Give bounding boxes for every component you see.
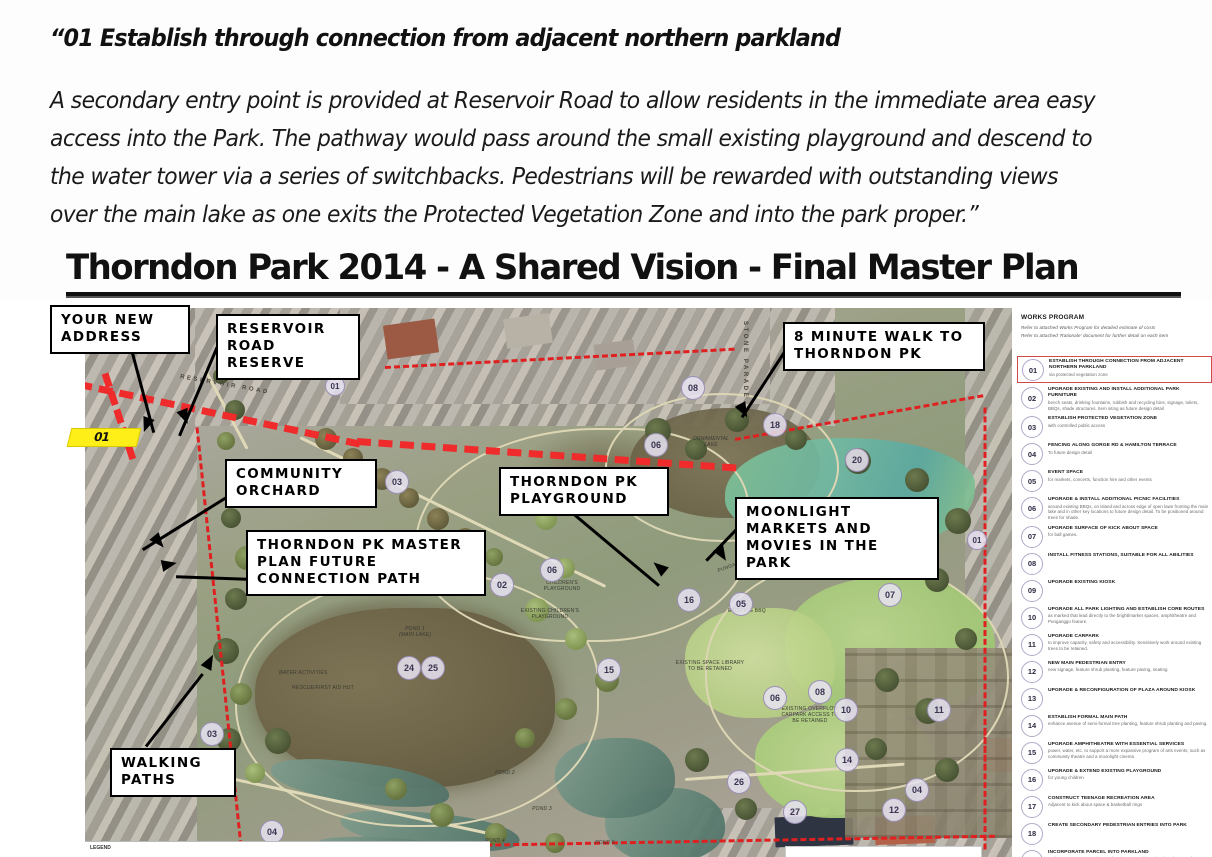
tree-canopy	[865, 738, 887, 760]
tree-canopy	[385, 778, 407, 800]
callout-walking-paths[interactable]: WALKING PATHS	[110, 748, 236, 797]
works-item-number: 07	[1021, 526, 1043, 548]
works-item-body: CREATE SECONDARY PEDESTRIAN ENTRIES INTO…	[1048, 822, 1209, 829]
boundary-dashed-carpark-east	[984, 730, 987, 850]
works-item-body: UPGRADE & EXTEND EXISTING PLAYGROUNDfor …	[1048, 768, 1209, 781]
works-item-15[interactable]: 15UPGRADE AMPHITHEATRE WITH ESSENTIAL SE…	[1017, 740, 1212, 765]
legend-panel: LEGEND	[85, 841, 490, 857]
highlight-label: 01	[92, 430, 110, 444]
works-item-detail: as marked that lead directly to the brig…	[1048, 613, 1209, 624]
works-item-heading: UPGRADE CARPARK	[1048, 634, 1209, 640]
map-marker-14[interactable]: 14	[835, 748, 859, 772]
map-marker-05[interactable]: 05	[729, 592, 753, 616]
works-item-body: UPGRADE & RECONFIGURATION OF PLAZA AROUN…	[1048, 687, 1209, 694]
works-item-detail: Adjacent to kick about space & basketbal…	[1048, 802, 1209, 808]
map-marker-06a[interactable]: 06	[644, 433, 668, 457]
works-program-subtitle-1: Refer to attached Works Program for deta…	[1021, 325, 1155, 330]
works-item-09[interactable]: 09UPGRADE EXISTING KIOSK	[1017, 578, 1212, 603]
works-item-heading: UPGRADE & RECONFIGURATION OF PLAZA AROUN…	[1048, 688, 1209, 694]
title-underline	[66, 292, 1181, 296]
works-item-heading: UPGRADE EXISTING KIOSK	[1048, 580, 1209, 586]
works-item-number: 17	[1021, 796, 1043, 818]
works-item-heading: FENCING ALONG GORGE RD & HAMILTON TERRAC…	[1048, 443, 1209, 449]
quote-line-4: over the main lake as one exits the Prot…	[50, 196, 1105, 234]
label-water-activities: WATER ACTIVITIES	[270, 670, 336, 676]
works-item-body: ESTABLISH PROTECTED VEGETATION ZONEwith …	[1048, 415, 1209, 428]
works-item-19[interactable]: 19INCORPORATE PARCEL INTO PARKLANDand cr…	[1017, 848, 1212, 857]
map-marker-11[interactable]: 11	[927, 698, 951, 722]
works-item-number: 16	[1021, 769, 1043, 791]
works-program-subtitle-2: Refer to attached 'Rationale' document f…	[1021, 333, 1168, 338]
map-marker-06b[interactable]: 06	[540, 558, 564, 582]
callout-your-new-address[interactable]: YOUR NEW ADDRESS	[50, 305, 190, 354]
works-item-number: 12	[1021, 661, 1043, 683]
works-item-heading: INSTALL FITNESS STATIONS, SUITABLE FOR A…	[1048, 553, 1209, 559]
label-pond-3: POND 3	[522, 806, 562, 812]
works-item-heading: ESTABLISH FORMAL MAIN PATH	[1048, 715, 1209, 721]
tree-canopy	[685, 748, 709, 772]
map-marker-08a[interactable]: 08	[681, 376, 705, 400]
callout-thorndon-pk-playground[interactable]: THORNDON PK PLAYGROUND	[499, 467, 669, 516]
works-item-04[interactable]: 04FENCING ALONG GORGE RD & HAMILTON TERR…	[1017, 441, 1212, 466]
map-marker-27[interactable]: 27	[783, 800, 807, 824]
works-item-number: 04	[1021, 443, 1043, 465]
map-marker-15[interactable]: 15	[597, 658, 621, 682]
map-marker-06c[interactable]: 06	[763, 686, 787, 710]
map-marker-24[interactable]: 24	[397, 656, 421, 680]
tree-canopy	[935, 758, 959, 782]
tree-canopy	[565, 628, 587, 650]
tree-canopy	[905, 468, 929, 492]
works-item-body: UPGRADE CARPARKto improve capacity, safe…	[1048, 633, 1209, 652]
works-item-05[interactable]: 05EVENT SPACEfor markets, concerts, func…	[1017, 468, 1212, 493]
callout-community-orchard[interactable]: COMMUNITY ORCHARD	[225, 459, 377, 508]
works-item-07[interactable]: 07UPGRADE SURFACE OF KICK ABOUT SPACEfor…	[1017, 524, 1212, 549]
works-item-body: FENCING ALONG GORGE RD & HAMILTON TERRAC…	[1048, 442, 1209, 455]
works-item-heading: CONSTRUCT TEENAGE RECREATION AREA	[1048, 796, 1209, 802]
works-item-number: 11	[1021, 634, 1043, 656]
quote-heading: “01 Establish through connection from ad…	[50, 24, 1073, 52]
works-item-detail: with controlled public access	[1048, 423, 1209, 429]
works-item-number: 13	[1021, 688, 1043, 710]
works-item-number: 09	[1021, 580, 1043, 602]
works-item-detail: To future design detail	[1048, 450, 1209, 456]
tree-canopy	[217, 432, 235, 450]
works-item-detail: for markets, concerts, function hire and…	[1048, 477, 1209, 483]
tree-canopy	[245, 763, 265, 783]
works-item-body: INSTALL FITNESS STATIONS, SUITABLE FOR A…	[1048, 552, 1209, 559]
works-item-heading: NEW MAIN PEDESTRIAN ENTRY	[1048, 661, 1209, 667]
works-item-heading: CREATE SECONDARY PEDESTRIAN ENTRIES INTO…	[1048, 823, 1209, 829]
works-item-number: 08	[1021, 553, 1043, 575]
works-item-06[interactable]: 06UPGRADE & INSTALL ADDITIONAL PICNIC FA…	[1017, 495, 1212, 521]
map-marker-03b[interactable]: 03	[200, 722, 224, 746]
label-ornamental-lake: ORNAMENTAL LAKE	[681, 436, 741, 448]
works-item-heading: UPGRADE ALL PARK LIGHTING AND ESTABLISH …	[1048, 607, 1209, 613]
works-item-number: 03	[1021, 416, 1043, 438]
works-item-heading: UPGRADE & INSTALL ADDITIONAL PICNIC FACI…	[1048, 497, 1209, 503]
works-item-heading: UPGRADE EXISTING AND INSTALL ADDITIONAL …	[1048, 387, 1209, 399]
works-item-detail: bench seats, drinking fountains, rubbish…	[1048, 400, 1209, 411]
works-item-11[interactable]: 11UPGRADE CARPARKto improve capacity, sa…	[1017, 632, 1212, 657]
works-item-number: 01	[1022, 359, 1044, 381]
tree-canopy	[955, 628, 977, 650]
works-item-body: INCORPORATE PARCEL INTO PARKLANDand crea…	[1048, 849, 1209, 857]
works-item-number: 15	[1021, 742, 1043, 764]
label-pond-1-main-lake: POND 1 (MAIN LAKE)	[385, 626, 445, 638]
legend-title: LEGEND	[90, 845, 111, 851]
quote-line-2: access into the Park. The pathway would …	[50, 120, 1105, 158]
tree-canopy	[945, 508, 971, 534]
map-marker-02[interactable]: 02	[490, 573, 514, 597]
quote-line-1: A secondary entry point is provided at R…	[50, 82, 1105, 120]
works-item-18[interactable]: 18CREATE SECONDARY PEDESTRIAN ENTRIES IN…	[1017, 821, 1212, 846]
works-item-detail: via protected vegetation zone	[1049, 372, 1208, 378]
tree-canopy	[555, 698, 577, 720]
works-item-number: 18	[1021, 823, 1043, 845]
map-marker-18[interactable]: 18	[763, 413, 787, 437]
works-item-body: ESTABLISH THROUGH CONNECTION FROM ADJACE…	[1049, 358, 1208, 378]
works-item-12[interactable]: 12NEW MAIN PEDESTRIAN ENTRYnew signage, …	[1017, 659, 1212, 684]
quote-line-3: the water tower via a series of switchba…	[50, 158, 1105, 196]
works-item-heading: ESTABLISH PROTECTED VEGETATION ZONE	[1048, 416, 1209, 422]
works-program-title: WORKS PROGRAM	[1021, 314, 1084, 321]
map-marker-04a[interactable]: 04	[905, 778, 929, 802]
master-plan-sheet: RESERVOIR ROAD STONE PARADE ORNAMENTAL L…	[22, 300, 1212, 857]
legend-panel-secondary	[785, 846, 982, 857]
tree-canopy	[735, 798, 757, 820]
map-marker-01b[interactable]: 01	[967, 530, 987, 550]
boundary-dashed-east	[984, 408, 987, 770]
works-item-body: NEW MAIN PEDESTRIAN ENTRYnew signage, fe…	[1048, 660, 1209, 673]
works-item-number: 02	[1021, 387, 1043, 409]
tree-canopy	[515, 728, 535, 748]
works-item-01[interactable]: 01ESTABLISH THROUGH CONNECTION FROM ADJA…	[1017, 356, 1212, 383]
label-pond-2: POND 2	[485, 770, 525, 776]
road-label-stone-parade: STONE PARADE	[742, 321, 748, 399]
works-item-17[interactable]: 17CONSTRUCT TEENAGE RECREATION AREAAdjac…	[1017, 794, 1212, 819]
map-marker-16[interactable]: 16	[677, 588, 701, 612]
works-item-number: 05	[1021, 470, 1043, 492]
tree-canopy	[265, 728, 291, 754]
map-marker-20[interactable]: 20	[845, 448, 869, 472]
works-program-panel: WORKS PROGRAM Refer to attached Works Pr…	[1017, 308, 1212, 857]
label-pond-5: POND 5	[585, 840, 625, 846]
works-item-heading: UPGRADE SURFACE OF KICK ABOUT SPACE	[1048, 526, 1209, 532]
callout-master-plan-future-connection-path[interactable]: THORNDON PK MASTER PLAN FUTURE CONNECTIO…	[246, 530, 486, 596]
works-item-detail: to improve capacity, safety and accessib…	[1048, 640, 1209, 651]
map-marker-12[interactable]: 12	[882, 798, 906, 822]
tree-canopy	[875, 668, 899, 692]
tree-canopy	[485, 548, 503, 566]
callout-reservoir-road-reserve[interactable]: RESERVOIR ROAD RESERVE	[216, 314, 360, 380]
label-childrens-playground: CHILDREN'S PLAYGROUND	[535, 580, 589, 592]
map-marker-10[interactable]: 10	[834, 698, 858, 722]
works-item-detail: around existing BBQs, on island and acro…	[1048, 504, 1209, 521]
works-item-16[interactable]: 16UPGRADE & EXTEND EXISTING PLAYGROUNDfo…	[1017, 767, 1212, 792]
works-item-heading: UPGRADE & EXTEND EXISTING PLAYGROUND	[1048, 769, 1209, 775]
works-item-body: UPGRADE ALL PARK LIGHTING AND ESTABLISH …	[1048, 606, 1209, 625]
quote-body: A secondary entry point is provided at R…	[50, 82, 1105, 234]
works-item-heading: EVENT SPACE	[1048, 470, 1209, 476]
map-marker-26[interactable]: 26	[727, 770, 751, 794]
map-marker-25[interactable]: 25	[421, 656, 445, 680]
works-item-14[interactable]: 14ESTABLISH FORMAL MAIN PATHenhance aven…	[1017, 713, 1212, 738]
label-existing-space-library: EXISTING SPACE LIBRARY TO BE RETAINED	[675, 660, 745, 672]
works-item-detail: for young children	[1048, 775, 1209, 781]
works-item-body: UPGRADE & INSTALL ADDITIONAL PICNIC FACI…	[1048, 496, 1209, 520]
works-item-body: UPGRADE EXISTING KIOSK	[1048, 579, 1209, 586]
roof-patch	[383, 319, 439, 360]
map-marker-08b[interactable]: 08	[808, 680, 832, 704]
tree-canopy	[221, 508, 241, 528]
works-item-number: 14	[1021, 715, 1043, 737]
works-item-03[interactable]: 03ESTABLISH PROTECTED VEGETATION ZONEwit…	[1017, 414, 1212, 439]
works-item-number: 06	[1021, 497, 1043, 519]
roof-patch	[503, 313, 553, 349]
works-item-13[interactable]: 13UPGRADE & RECONFIGURATION OF PLAZA ARO…	[1017, 686, 1212, 711]
label-existing-childrens-playground: EXISTING CHILDREN'S PLAYGROUND	[515, 608, 585, 620]
works-item-02[interactable]: 02UPGRADE EXISTING AND INSTALL ADDITIONA…	[1017, 385, 1212, 412]
works-item-number: 10	[1021, 607, 1043, 629]
works-program-list: 01ESTABLISH THROUGH CONNECTION FROM ADJA…	[1017, 356, 1212, 857]
map-marker-03a[interactable]: 03	[385, 470, 409, 494]
tree-canopy	[430, 803, 454, 827]
works-item-heading: INCORPORATE PARCEL INTO PARKLAND	[1048, 850, 1209, 856]
works-item-body: CONSTRUCT TEENAGE RECREATION AREAAdjacen…	[1048, 795, 1209, 808]
works-item-detail: new signage, feature shrub planting, fea…	[1048, 667, 1209, 673]
works-item-body: EVENT SPACEfor markets, concerts, functi…	[1048, 469, 1209, 482]
works-item-detail: power, water, etc. to support a more exp…	[1048, 748, 1209, 759]
works-item-body: UPGRADE EXISTING AND INSTALL ADDITIONAL …	[1048, 386, 1209, 411]
callout-moonlight-markets[interactable]: MOONLIGHT MARKETS AND MOVIES IN THE PARK	[735, 497, 939, 580]
map-marker-07[interactable]: 07	[878, 583, 902, 607]
works-item-detail: for ball games.	[1048, 532, 1209, 538]
page-title: Thorndon Park 2014 - A Shared Vision - F…	[66, 248, 1078, 288]
works-item-body: UPGRADE SURFACE OF KICK ABOUT SPACEfor b…	[1048, 525, 1209, 538]
label-rescue-first-aid-hut: RESCUE/FIRST AID HUT	[285, 685, 361, 691]
works-item-heading: ESTABLISH THROUGH CONNECTION FROM ADJACE…	[1049, 359, 1208, 371]
works-item-body: ESTABLISH FORMAL MAIN PATHenhance avenue…	[1048, 714, 1209, 727]
works-item-heading: UPGRADE AMPHITHEATRE WITH ESSENTIAL SERV…	[1048, 742, 1209, 748]
works-item-10[interactable]: 10UPGRADE ALL PARK LIGHTING AND ESTABLIS…	[1017, 605, 1212, 630]
tree-canopy	[427, 508, 449, 530]
works-item-08[interactable]: 08INSTALL FITNESS STATIONS, SUITABLE FOR…	[1017, 551, 1212, 576]
callout-eight-minute-walk[interactable]: 8 MINUTE WALK TO THORNDON PK	[783, 322, 985, 371]
works-item-body: UPGRADE AMPHITHEATRE WITH ESSENTIAL SERV…	[1048, 741, 1209, 760]
header-text-block: “01 Establish through connection from ad…	[0, 0, 1212, 300]
works-item-number: 19	[1021, 850, 1043, 857]
works-item-detail: enhance avenue of semi-formal tree plant…	[1048, 721, 1209, 727]
tree-canopy	[230, 683, 252, 705]
tree-canopy	[225, 588, 247, 610]
highlight-your-new-address: 01	[67, 428, 142, 447]
